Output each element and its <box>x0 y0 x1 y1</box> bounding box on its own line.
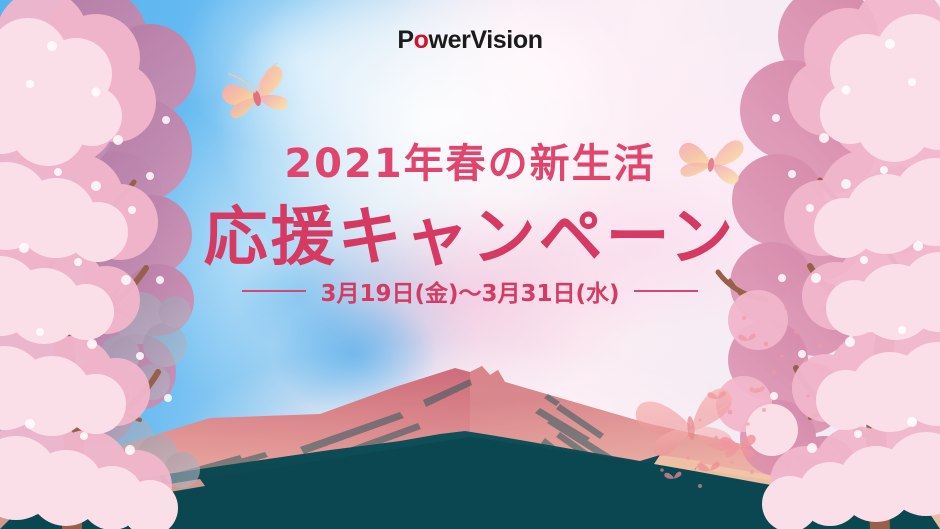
brand-name-part1: P <box>397 26 413 54</box>
period-rule-left <box>242 290 306 292</box>
brand-name-accent: o <box>414 26 429 54</box>
headline-title: 応援キャンペーン <box>0 186 940 278</box>
campaign-period: 3月19日(金)〜3月31日(水) <box>0 274 940 308</box>
headline-subtitle: 2021年春の新生活 <box>0 131 940 189</box>
brand-name-part2: werVision <box>429 26 543 54</box>
period-text: 3月19日(金)〜3月31日(水) <box>320 274 619 308</box>
banner-content: PowerVision 2021年春の新生活 応援キャンペーン 3月19日(金)… <box>0 0 940 529</box>
period-rule-right <box>634 290 698 292</box>
campaign-banner: PowerVision 2021年春の新生活 応援キャンペーン 3月19日(金)… <box>0 0 940 529</box>
brand-logo: PowerVision <box>0 26 940 55</box>
